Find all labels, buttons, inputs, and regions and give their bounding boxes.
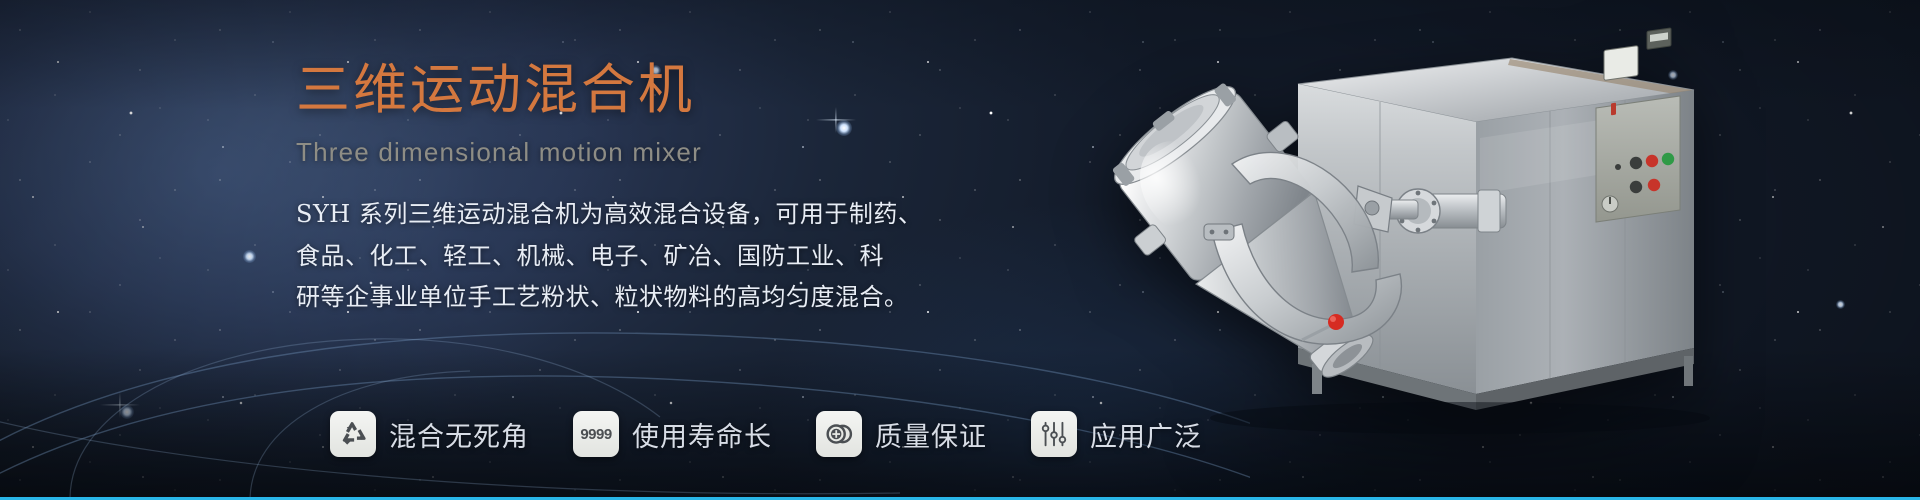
feature-item-application[interactable]: 应用广泛	[1031, 411, 1202, 457]
green-button	[1662, 153, 1674, 165]
sliders-icon	[1031, 411, 1077, 457]
page-title: 三维运动混合机	[296, 60, 996, 119]
lifespan-badge-number: 9999	[580, 426, 611, 443]
drive-shaft-assembly	[1354, 186, 1506, 233]
lifespan-icon: 9999	[573, 411, 619, 457]
control-panel	[1596, 28, 1680, 222]
coins-icon	[816, 411, 862, 457]
description-line: 研等企事业单位手工艺粉状、粒状物料的高均匀度混合。	[296, 277, 936, 318]
description-line: SYH 系列三维运动混合机为高效混合设备，可用于制药、	[296, 194, 936, 235]
feature-list: 混合无死角 9999 使用寿命长 质量保证	[330, 411, 1202, 457]
page-subtitle: Three dimensional motion mixer	[296, 137, 996, 168]
product-photo	[1080, 18, 1720, 438]
red-button	[1646, 155, 1658, 167]
red-indicator	[1611, 103, 1616, 116]
product-description: SYH 系列三维运动混合机为高效混合设备，可用于制药、 食品、化工、轻工、机械、…	[296, 194, 936, 318]
feature-label: 应用广泛	[1090, 415, 1202, 454]
description-line: 食品、化工、轻工、机械、电子、矿冶、国防工业、科	[296, 236, 936, 277]
feature-label: 使用寿命长	[632, 415, 772, 454]
feature-item-mixing[interactable]: 混合无死角	[330, 411, 529, 457]
feature-label: 混合无死角	[389, 415, 529, 454]
feature-item-lifespan[interactable]: 9999 使用寿命长	[573, 411, 772, 457]
red-button	[1648, 179, 1660, 191]
black-knob	[1630, 181, 1642, 193]
hero-copy: 三维运动混合机 Three dimensional motion mixer S…	[296, 60, 996, 318]
black-knob	[1630, 157, 1642, 169]
feature-label: 质量保证	[875, 415, 987, 454]
recycle-icon	[330, 411, 376, 457]
feature-item-quality[interactable]: 质量保证	[816, 411, 987, 457]
gauge-dial	[1604, 46, 1638, 81]
product-hero-banner: 三维运动混合机 Three dimensional motion mixer S…	[0, 0, 1920, 500]
